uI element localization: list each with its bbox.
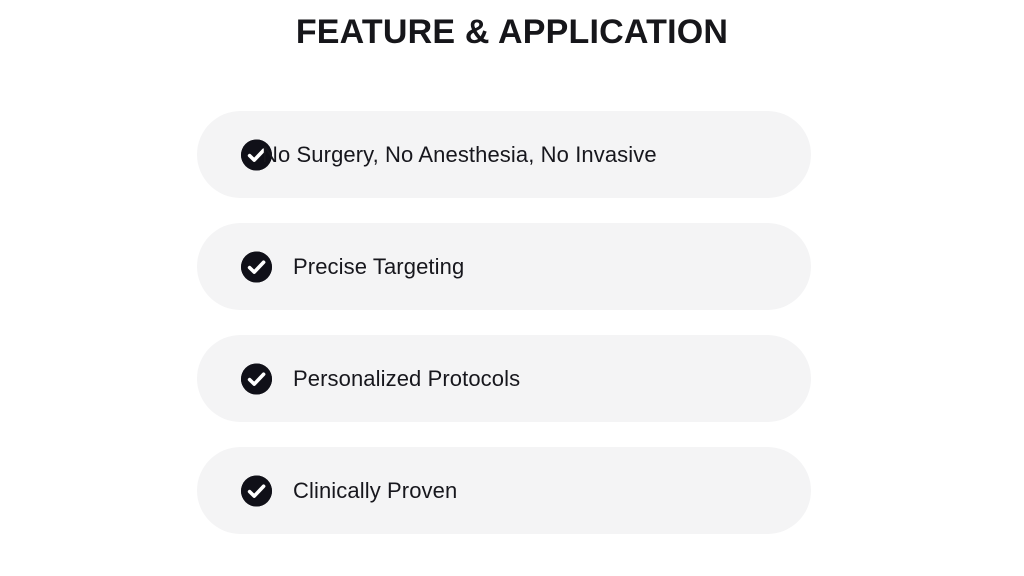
feature-list-item[interactable]: Clinically Proven [197,447,811,534]
feature-list-item-label: Personalized Protocols [293,366,520,392]
feature-list-item-label: No Surgery, No Anesthesia, No Invasive [262,142,657,168]
feature-list-item-label: Clinically Proven [293,478,457,504]
check-circle-icon [241,475,272,506]
page-title: FEATURE & APPLICATION [0,8,1024,56]
feature-list-item[interactable]: Precise Targeting [197,223,811,310]
check-circle-icon [241,363,272,394]
feature-list: No Surgery, No Anesthesia, No Invasive P… [197,111,811,534]
feature-list-item-label: Precise Targeting [293,254,464,280]
check-circle-icon [241,251,272,282]
feature-list-item[interactable]: Personalized Protocols [197,335,811,422]
feature-list-item[interactable]: No Surgery, No Anesthesia, No Invasive [197,111,811,198]
feature-application-slide: FEATURE & APPLICATION No Surgery, No Ane… [0,0,1024,576]
